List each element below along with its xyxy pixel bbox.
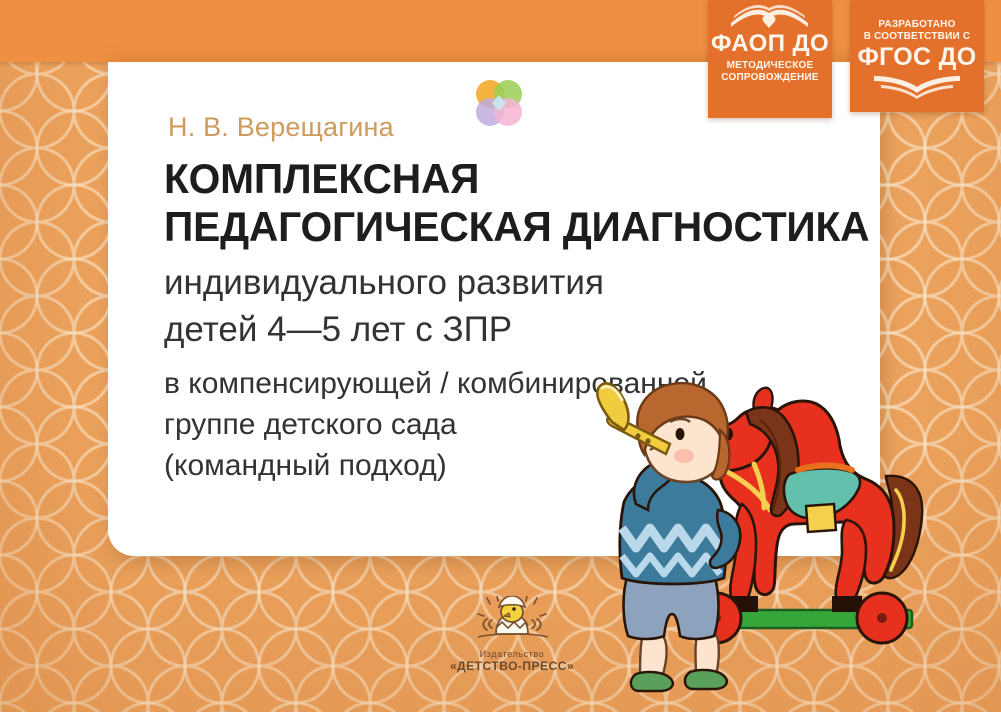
chick-in-egg-icon	[444, 596, 580, 642]
badge-faop-subtitle: МЕТОДИЧЕСКОЕ СОПРОВОЖДЕНИЕ	[708, 60, 832, 84]
author-name: Н. В. Верещагина	[168, 112, 394, 143]
subtitle-primary: индивидуального развития детей 4—5 лет с…	[164, 260, 864, 353]
badge-faop-do: ФАОП ДО МЕТОДИЧЕСКОЕ СОПРОВОЖДЕНИЕ	[708, 0, 832, 118]
subtitle-primary-line1: индивидуального развития	[164, 260, 864, 307]
boy-with-trumpet-icon	[597, 383, 740, 691]
publisher-mark: Издательство «ДЕТСТВО-ПРЕСС»	[444, 596, 580, 673]
boy-with-trumpet-and-toy-horse-illustration	[594, 378, 994, 712]
book-cover: ФАОП ДО МЕТОДИЧЕСКОЕ СОПРОВОЖДЕНИЕ РАЗРА…	[0, 0, 1001, 712]
badge-fgos-do: РАЗРАБОТАНО В СООТВЕТСТВИИ С ФГОС ДО	[850, 0, 984, 112]
open-book-icon	[871, 73, 963, 99]
badge-fgos-toptext: РАЗРАБОТАНО В СООТВЕТСТВИИ С	[850, 19, 984, 43]
four-circles-icon	[470, 77, 528, 131]
badge-faop-subtitle-line2: СОПРОВОЖДЕНИЕ	[712, 72, 828, 84]
cover-illustration	[594, 378, 994, 712]
page-title-line2: ПЕДАГОГИЧЕСКАЯ ДИАГНОСТИКА	[164, 203, 862, 251]
page-title: КОМПЛЕКСНАЯ ПЕДАГОГИЧЕСКАЯ ДИАГНОСТИКА	[164, 155, 862, 251]
open-book-heart-icon	[728, 0, 812, 30]
subtitle-primary-line2: детей 4—5 лет с ЗПР	[164, 307, 864, 354]
badge-fgos-toptext-line2: В СООТВЕТСТВИИ С	[856, 31, 978, 43]
publisher-line2: «ДЕТСТВО-ПРЕСС»	[444, 659, 580, 673]
four-circles-logo	[470, 77, 528, 136]
badge-faop-title: ФАОП ДО	[708, 32, 832, 56]
badge-fgos-title: ФГОС ДО	[850, 45, 984, 70]
badge-fgos-toptext-line1: РАЗРАБОТАНО	[856, 19, 978, 31]
page-title-line1: КОМПЛЕКСНАЯ	[164, 155, 862, 203]
publisher-line1: Издательство	[444, 649, 580, 659]
badge-faop-subtitle-line1: МЕТОДИЧЕСКОЕ	[712, 60, 828, 72]
